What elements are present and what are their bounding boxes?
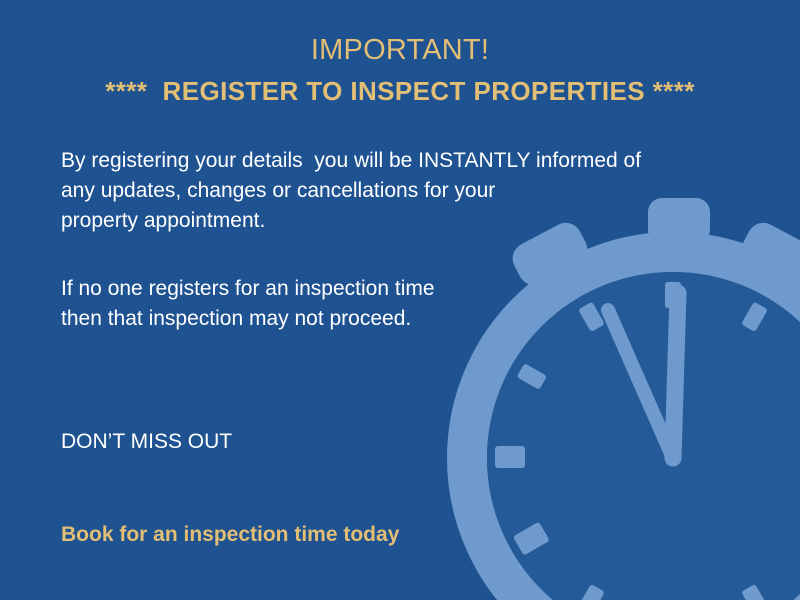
cta-dont-miss-out: DON’T MISS OUT: [61, 426, 399, 457]
slide-text-layer: IMPORTANT! **** REGISTER TO INSPECT PROP…: [0, 0, 800, 600]
promo-slide: IMPORTANT! **** REGISTER TO INSPECT PROP…: [0, 0, 800, 600]
headline-register-to-inspect: **** REGISTER TO INSPECT PROPERTIES ****: [0, 75, 800, 107]
paragraph-registering-benefits: By registering your details you will be …: [61, 146, 641, 236]
cta-book-inspection: Book for an inspection time today: [61, 519, 399, 550]
headline-important: IMPORTANT!: [0, 33, 800, 67]
call-to-action-block: DON’T MISS OUT Book for an inspection ti…: [61, 364, 399, 600]
paragraph-no-registration-warning: If no one registers for an inspection ti…: [61, 274, 435, 334]
